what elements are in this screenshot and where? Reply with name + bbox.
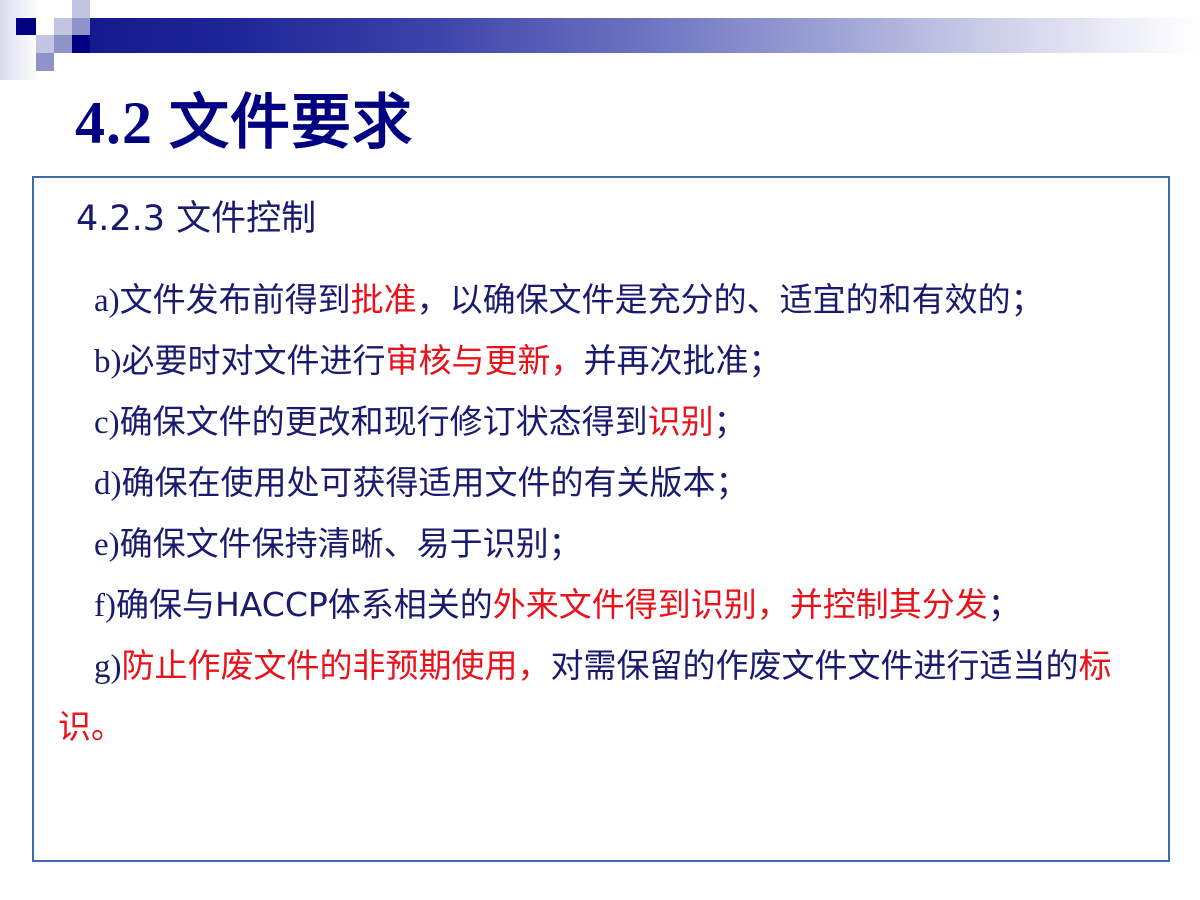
clause-marker-g: g) xyxy=(94,649,122,685)
clause-text-g-0: 防止作废文件的非预期使用， xyxy=(122,646,551,685)
square-light-2 xyxy=(54,18,72,35)
square-light-3 xyxy=(36,35,54,53)
clause-item-a: a)文件发布前得到批准，以确保文件是充分的、适宜的和有效的； xyxy=(58,270,1158,331)
clause-text-c-0: 确保文件的更改和现行修订状态得到 xyxy=(120,402,648,441)
clause-item-c: c)确保文件的更改和现行修订状态得到识别； xyxy=(58,392,1158,453)
section-subheading: 4.2.3 文件控制 xyxy=(76,198,316,240)
clause-text-f-0: 确保与HACCP体系相关的 xyxy=(116,585,493,624)
clause-item-d: d)确保在使用处可获得适用文件的有关版本； xyxy=(58,453,1158,514)
clause-text-d-0: 确保在使用处可获得适用文件的有关版本； xyxy=(122,463,749,502)
clause-item-g: g)防止作废文件的非预期使用，对需保留的作废文件文件进行适当的标识。 xyxy=(58,636,1158,757)
content-panel: 4.2.3 文件控制 a)文件发布前得到批准，以确保文件是充分的、适宜的和有效的… xyxy=(32,176,1170,862)
clause-marker-d: d) xyxy=(94,466,122,502)
left-fade-strip xyxy=(0,0,40,80)
square-light-1 xyxy=(72,0,90,18)
square-dark-2 xyxy=(72,35,90,53)
clause-text-e-0: 确保文件保持清晰、易于识别； xyxy=(120,524,582,563)
clause-text-g-1: 对需保留的作废文件文件进行适当的 xyxy=(551,646,1079,685)
page-title: 4.2 文件要求 xyxy=(75,88,413,158)
clause-marker-c: c) xyxy=(94,405,120,441)
clause-list: a)文件发布前得到批准，以确保文件是充分的、适宜的和有效的；b)必要时对文件进行… xyxy=(58,270,1158,757)
clause-text-b-2: 并再次批准； xyxy=(584,341,782,380)
square-dark-1 xyxy=(16,18,36,35)
clause-marker-e: e) xyxy=(94,527,120,563)
clause-marker-a: a) xyxy=(94,283,120,319)
clause-text-b-0: 必要时对文件进行 xyxy=(122,341,386,380)
square-mid-1 xyxy=(72,18,90,35)
clause-text-a-2: ，以确保文件是充分的、适宜的和有效的； xyxy=(417,280,1044,319)
clause-item-e: e)确保文件保持清晰、易于识别； xyxy=(58,514,1158,575)
square-mid-3 xyxy=(36,53,54,71)
clause-marker-f: f) xyxy=(94,588,116,624)
clause-text-b-1: 审核与更新， xyxy=(386,341,584,380)
clause-text-c-2: ； xyxy=(714,402,747,441)
clause-text-c-1: 识别 xyxy=(648,402,714,441)
clause-text-a-1: 批准 xyxy=(351,280,417,319)
clause-text-f-2: ； xyxy=(988,585,1021,624)
clause-item-b: b)必要时对文件进行审核与更新，并再次批准； xyxy=(58,331,1158,392)
clause-text-a-0: 文件发布前得到 xyxy=(120,280,351,319)
square-mid-2 xyxy=(54,35,72,53)
clause-text-f-1: 外来文件得到识别，并控制其分发 xyxy=(493,585,988,624)
gradient-bar-decoration xyxy=(88,18,1200,53)
clause-marker-b: b) xyxy=(94,344,122,380)
clause-item-f: f)确保与HACCP体系相关的外来文件得到识别，并控制其分发； xyxy=(58,575,1158,636)
header-decoration xyxy=(0,0,1200,80)
